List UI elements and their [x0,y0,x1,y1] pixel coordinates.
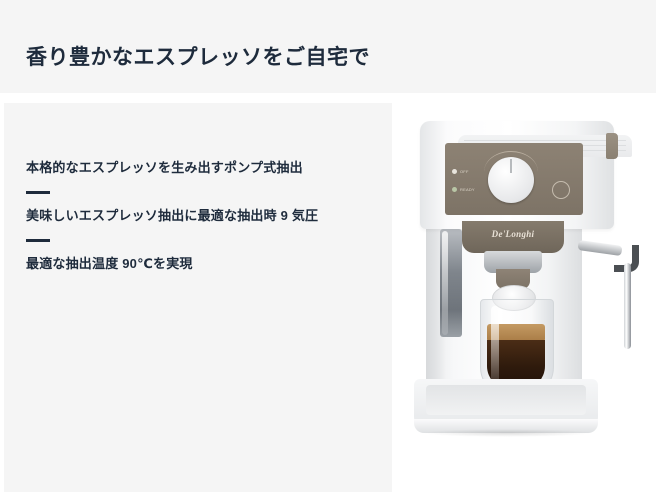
side-lever[interactable] [606,133,618,159]
water-tank-highlight [442,231,448,335]
cup-icon [552,181,570,199]
feature-item-2: 美味しいエスプレッソ抽出に最適な抽出時 9 気圧 [26,207,376,225]
feature-list: 本格的なエスプレッソを生み出すポンプ式抽出 美味しいエスプレッソ抽出に最適な抽出… [26,159,376,273]
product-feature-page: 香り豊かなエスプレッソをご自宅で 本格的なエスプレッソを生み出すポンプ式抽出 美… [0,0,656,492]
product-photo-panel: OFF READY De'Longhi [392,103,656,492]
feature-divider-1 [26,191,50,194]
glass-highlight [491,306,499,386]
indicator-light-ready [452,187,457,192]
header-divider [0,93,656,103]
header-band: 香り豊かなエスプレッソをご自宅で [0,0,656,93]
indicator-light-off [452,169,457,174]
dial-pointer-icon [510,159,512,173]
feature-divider-2 [26,239,50,242]
feature-item-1: 本格的なエスプレッソを生み出すポンプ式抽出 [26,159,376,177]
drip-tray-grate [426,385,586,415]
feature-item-3: 最適な抽出温度 90℃を実現 [26,255,376,273]
espresso-machine-image: OFF READY De'Longhi [392,103,656,492]
brand-plate: De'Longhi [462,221,564,253]
indicator-label-off: OFF [460,169,469,174]
steam-wand-pipe [624,263,631,349]
indicator-label-ready: READY [460,187,475,192]
feature-text-panel: 本格的なエスプレッソを生み出すポンプ式抽出 美味しいエスプレッソ抽出に最適な抽出… [4,103,392,492]
brand-label: De'Longhi [462,229,564,239]
page-title: 香り豊かなエスプレッソをご自宅で [26,41,370,71]
content-area: 本格的なエスプレッソを生み出すポンプ式抽出 美味しいエスプレッソ抽出に最適な抽出… [0,103,656,492]
machine-shadow [422,429,592,437]
